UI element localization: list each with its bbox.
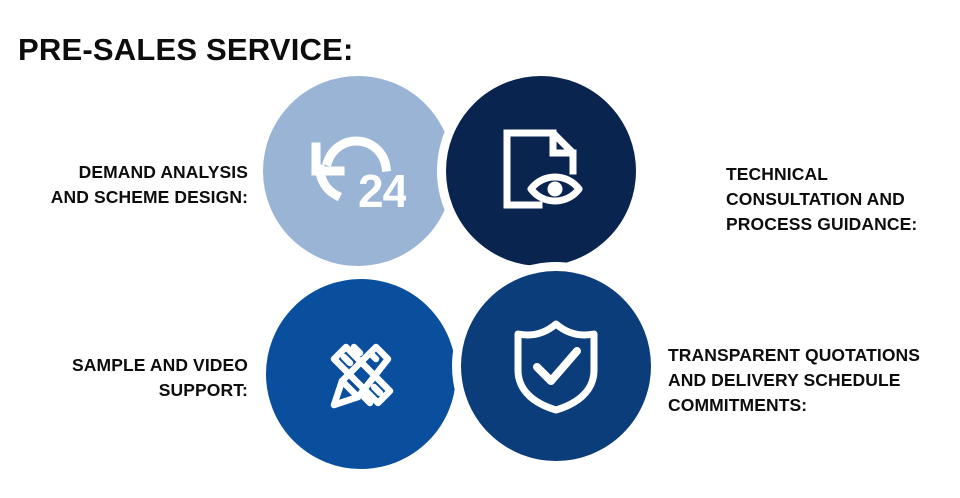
circle-sample-video-support[interactable] <box>257 270 465 478</box>
label-technical-consultation: TECHNICAL CONSULTATION AND PROCESS GUIDA… <box>726 162 956 237</box>
circles-diagram: 24 <box>258 75 678 490</box>
label-demand-analysis: DEMAND ANALYSIS AND SCHEME DESIGN: <box>0 160 248 210</box>
label-line: DEMAND ANALYSIS <box>0 160 248 185</box>
circle-technical-consultation[interactable] <box>437 67 645 275</box>
shield-check-icon <box>510 318 602 414</box>
label-transparent-quotations: TRANSPARENT QUOTATIONS AND DELIVERY SCHE… <box>668 343 960 418</box>
pen-and-ruler-icon <box>313 326 409 422</box>
label-line: TRANSPARENT QUOTATIONS <box>668 343 960 368</box>
label-line: SUPPORT: <box>0 378 248 403</box>
label-line: PROCESS GUIDANCE: <box>726 212 956 237</box>
svg-text:24: 24 <box>358 165 406 217</box>
label-line: AND SCHEME DESIGN: <box>0 185 248 210</box>
label-line: CONSULTATION AND <box>726 187 956 212</box>
rotate-24-hours-icon: 24 <box>310 125 406 217</box>
label-line: TECHNICAL <box>726 162 956 187</box>
label-line: AND DELIVERY SCHEDULE <box>668 368 960 393</box>
document-eye-icon <box>495 125 587 217</box>
circle-transparent-quotations[interactable] <box>452 262 660 470</box>
label-sample-video-support: SAMPLE AND VIDEO SUPPORT: <box>0 353 248 403</box>
page-title: PRE-SALES SERVICE: <box>18 33 354 67</box>
label-line: COMMITMENTS: <box>668 393 960 418</box>
circle-demand-analysis[interactable]: 24 <box>254 67 462 275</box>
label-line: SAMPLE AND VIDEO <box>0 353 248 378</box>
